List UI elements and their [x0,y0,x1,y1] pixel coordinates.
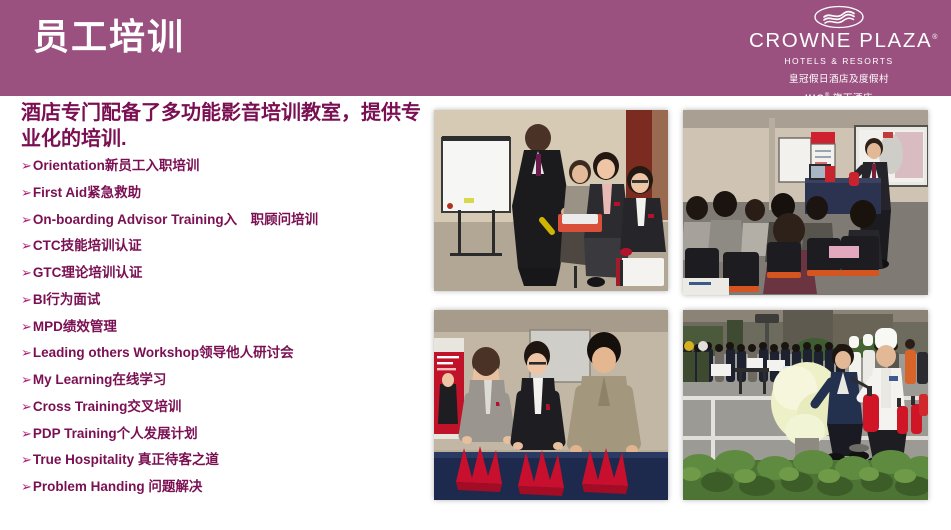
list-item-label: My Learning在线学习 [33,372,167,388]
list-item-label: PDP Training个人发展计划 [33,426,198,442]
list-item-label: Orientation新员工入职培训 [33,158,200,174]
chevron-right-icon: ➢ [21,212,32,228]
lead-paragraph: 酒店专门配备了多功能影音培训教室，提供专业化的培训. [21,101,426,152]
chevron-right-icon: ➢ [21,399,32,415]
list-item: ➢ Orientation新员工入职培训 [21,158,426,174]
logo-chinese-name: 皇冠假日酒店及度假村 [749,71,929,85]
chevron-right-icon: ➢ [21,372,32,388]
list-item: ➢ GTC理论培训认证 [21,265,426,281]
list-item-label: On-boarding Advisor Training入 职顾问培训 [33,212,318,228]
chevron-right-icon: ➢ [21,158,32,174]
chevron-right-icon: ➢ [21,265,32,281]
list-item-label: True Hospitality 真正待客之道 [33,452,219,468]
list-item-label: First Aid紧急救助 [33,185,141,201]
logo-wordmark-text: CROWNE PLAZA [749,29,932,52]
list-item: ➢ My Learning在线学习 [21,372,426,388]
list-item-label: CTC技能培训认证 [33,238,142,254]
ihg-wordmark: IHG [805,93,825,104]
list-item: ➢ PDP Training个人发展计划 [21,426,426,442]
list-item: ➢ CTC技能培训认证 [21,238,426,254]
logo-parent-brand: IHG® 旗下酒店 [749,90,929,104]
chevron-right-icon: ➢ [21,319,32,335]
ihg-suffix: 旗下酒店 [833,93,873,104]
photo-fire-extinguisher-drill [683,310,928,500]
photo-classroom-presentation-image [683,110,928,295]
chevron-right-icon: ➢ [21,426,32,442]
list-item-label: Problem Handing 问题解决 [33,479,203,495]
crowne-plaza-crown-icon [813,5,865,29]
page-title: 员工培训 [33,14,185,59]
list-item: ➢ MPD绩效管理 [21,319,426,335]
chevron-right-icon: ➢ [21,452,32,468]
list-item: ➢ On-boarding Advisor Training入 职顾问培训 [21,212,426,228]
list-item: ➢ True Hospitality 真正待客之道 [21,452,426,468]
list-item-label: BI行为面试 [33,292,101,308]
chevron-right-icon: ➢ [21,185,32,201]
ihg-registered-mark: ® [825,92,830,98]
training-content-column: 酒店专门配备了多功能影音培训教室，提供专业化的培训. ➢ Orientation… [21,101,426,506]
list-item-label: MPD绩效管理 [33,319,117,335]
logo-wordmark-container: CROWNE PLAZA® [749,31,929,52]
chevron-right-icon: ➢ [21,292,32,308]
photo-classroom-presentation [683,110,928,295]
training-slide: 员工培训 CROWNE PLAZA® HOTELS & RESORTS 皇冠假日… [0,0,951,530]
list-item: ➢ Problem Handing 问题解决 [21,479,426,495]
list-item-label: GTC理论培训认证 [33,265,143,281]
chevron-right-icon: ➢ [21,345,32,361]
photo-whiteboard-training-image [434,110,668,291]
logo-registered-mark: ® [932,34,937,41]
list-item: ➢ Cross Training交叉培训 [21,399,426,415]
list-item-label: Leading others Workshop领导他人研讨会 [33,345,294,361]
list-item: ➢ Leading others Workshop领导他人研讨会 [21,345,426,361]
chevron-right-icon: ➢ [21,238,32,254]
training-program-list: ➢ Orientation新员工入职培训 ➢ First Aid紧急救助 ➢ O… [21,158,426,495]
list-item-label: Cross Training交叉培训 [33,399,182,415]
logo-tagline: HOTELS & RESORTS [749,56,929,66]
list-item: ➢ First Aid紧急救助 [21,185,426,201]
list-item: ➢ BI行为面试 [21,292,426,308]
photo-whiteboard-training [434,110,668,291]
photo-napkin-folding [434,310,668,500]
brand-logo: CROWNE PLAZA® HOTELS & RESORTS 皇冠假日酒店及度假… [749,5,929,104]
photo-napkin-folding-image [434,310,668,500]
chevron-right-icon: ➢ [21,479,32,495]
photo-fire-extinguisher-drill-image [683,310,928,500]
